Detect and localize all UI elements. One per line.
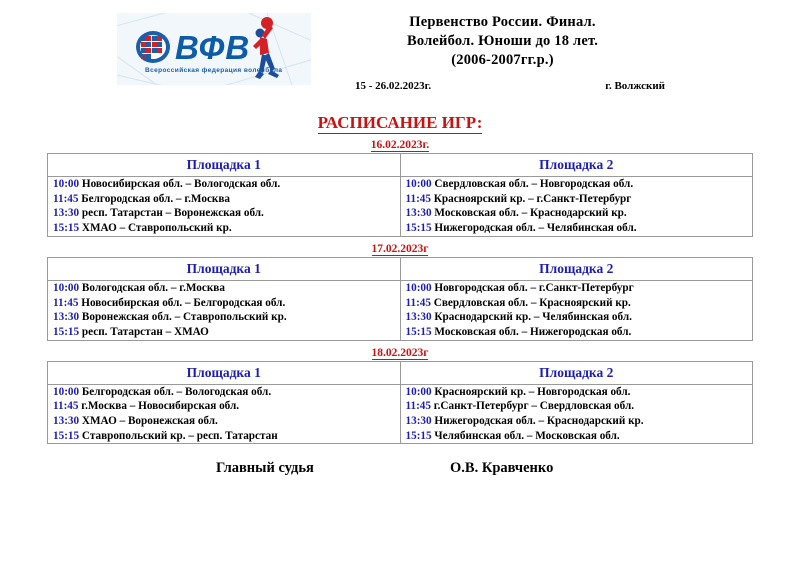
court-2-games: 10:00 Свердловская обл. – Новгородская о… — [400, 177, 753, 237]
game-time: 13:30 — [406, 311, 432, 323]
list-item: 10:00 Свердловская обл. – Новгородская о… — [401, 177, 753, 192]
game-teams: Ставропольский кр. – респ. Татарстан — [82, 430, 278, 442]
game-teams: Нижегородская обл. – Краснодарский кр. — [434, 415, 643, 427]
game-teams: ХМАО – Ставропольский кр. — [82, 222, 232, 234]
event-title-line-2: Волейбол. Юноши до 18 лет. — [330, 32, 675, 51]
game-teams: г.Москва – Новосибирская обл. — [81, 400, 239, 412]
day-date: 17.02.2023г — [0, 243, 800, 255]
game-teams: Белгородская обл. – Вологодская обл. — [82, 386, 271, 398]
list-item: 15:15 Ставропольский кр. – респ. Татарст… — [48, 429, 400, 444]
list-item: 10:00 Красноярский кр. – Новгородская об… — [401, 385, 753, 400]
event-title-line-3: (2006-2007гг.р.) — [330, 51, 675, 70]
game-teams: Новосибирская обл. – Белгородская обл. — [81, 297, 285, 309]
game-teams: Нижегородская обл. – Челябинская обл. — [434, 222, 636, 234]
column-header-court-1: Площадка 1 — [48, 257, 401, 280]
game-time: 10:00 — [53, 178, 79, 190]
column-header-court-1: Площадка 1 — [48, 361, 401, 384]
table-row: 10:00 Вологодская обл. – г.Москва 11:45 … — [48, 280, 753, 340]
game-time: 10:00 — [406, 386, 432, 398]
list-item: 15:15 Челябинская обл. – Московская обл. — [401, 429, 753, 444]
event-title-line-1: Первенство России. Финал. — [330, 13, 675, 32]
column-header-court-2: Площадка 2 — [400, 257, 753, 280]
day-date-text: 17.02.2023г — [372, 243, 429, 256]
event-title-block: Первенство России. Финал. Волейбол. Юнош… — [330, 13, 675, 70]
list-item: 11:45 г.Санкт-Петербург – Свердловская о… — [401, 399, 753, 414]
day-date-text: 16.02.2023г. — [371, 139, 430, 152]
game-teams: Свердловская обл. – Новгородская обл. — [434, 178, 633, 190]
game-teams: Московская обл. – Краснодарский кр. — [434, 207, 626, 219]
game-time: 13:30 — [53, 311, 79, 323]
game-time: 15:15 — [53, 430, 79, 442]
list-item: 11:45 Новосибирская обл. – Белгородская … — [48, 296, 400, 311]
game-time: 11:45 — [406, 193, 431, 205]
game-teams: г.Санкт-Петербург – Свердловская обл. — [434, 400, 634, 412]
game-time: 15:15 — [406, 430, 432, 442]
volleyball-federation-logo: ВФВ Всероссийская федерация волейбола — [117, 13, 311, 85]
event-meta-line: 15 - 26.02.2023г. г. Волжский — [355, 80, 665, 92]
game-teams: Новосибирская обл. – Вологодская обл. — [82, 178, 280, 190]
list-item: 11:45 г.Москва – Новосибирская обл. — [48, 399, 400, 414]
list-item: 15:15 ХМАО – Ставропольский кр. — [48, 221, 400, 236]
table-row: 10:00 Новосибирская обл. – Вологодская о… — [48, 177, 753, 237]
game-time: 13:30 — [53, 207, 79, 219]
court-2-games: 10:00 Новгородская обл. – г.Санкт-Петерб… — [400, 280, 753, 340]
game-teams: Воронежская обл. – Ставропольский кр. — [82, 311, 287, 323]
game-teams: Красноярский кр. – Новгородская обл. — [434, 386, 630, 398]
game-teams: Свердловская обл. – Красноярский кр. — [434, 297, 631, 309]
column-header-court-2: Площадка 2 — [400, 154, 753, 177]
table-row: 10:00 Белгородская обл. – Вологодская об… — [48, 384, 753, 444]
signature-name: О.В. Кравченко — [450, 460, 553, 477]
list-item: 11:45 Белгородская обл. – г.Москва — [48, 192, 400, 207]
schedule-table: Площадка 1 Площадка 2 10:00 Белгородская… — [47, 361, 753, 445]
table-header-row: Площадка 1 Площадка 2 — [48, 154, 753, 177]
game-time: 15:15 — [53, 222, 79, 234]
game-time: 15:15 — [53, 326, 79, 338]
schedule-title: РАСПИСАНИЕ ИГР: — [0, 113, 800, 133]
schedule-title-text: РАСПИСАНИЕ ИГР: — [318, 113, 483, 134]
table-header-row: Площадка 1 Площадка 2 — [48, 361, 753, 384]
game-teams: Красноярский кр. – г.Санкт-Петербург — [434, 193, 632, 205]
list-item: 10:00 Новосибирская обл. – Вологодская о… — [48, 177, 400, 192]
list-item: 11:45 Свердловская обл. – Красноярский к… — [401, 296, 753, 311]
day-block: 17.02.2023г Площадка 1 Площадка 2 10:00 … — [0, 243, 800, 341]
day-date: 18.02.2023г — [0, 347, 800, 359]
day-date-text: 18.02.2023г — [372, 347, 429, 360]
svg-text:ВФВ: ВФВ — [175, 29, 250, 66]
game-teams: респ. Татарстан – Воронежская обл. — [82, 207, 264, 219]
game-teams: Вологодская обл. – г.Москва — [82, 282, 225, 294]
game-teams: ХМАО – Воронежская обл. — [82, 415, 218, 427]
game-time: 11:45 — [53, 297, 78, 309]
schedule-table: Площадка 1 Площадка 2 10:00 Вологодская … — [47, 257, 753, 341]
list-item: 15:15 Московская обл. – Нижегородская об… — [401, 325, 753, 340]
game-teams: Белгородская обл. – г.Москва — [81, 193, 230, 205]
list-item: 10:00 Вологодская обл. – г.Москва — [48, 281, 400, 296]
schedule-table: Площадка 1 Площадка 2 10:00 Новосибирска… — [47, 153, 753, 237]
list-item: 10:00 Белгородская обл. – Вологодская об… — [48, 385, 400, 400]
list-item: 13:30 Краснодарский кр. – Челябинская об… — [401, 310, 753, 325]
game-time: 11:45 — [406, 297, 431, 309]
game-teams: респ. Татарстан – ХМАО — [82, 326, 209, 338]
list-item: 13:30 ХМАО – Воронежская обл. — [48, 414, 400, 429]
column-header-court-2: Площадка 2 — [400, 361, 753, 384]
list-item: 13:30 Московская обл. – Краснодарский кр… — [401, 206, 753, 221]
list-item: 11:45 Красноярский кр. – г.Санкт-Петербу… — [401, 192, 753, 207]
table-header-row: Площадка 1 Площадка 2 — [48, 257, 753, 280]
signature-block: Главный судья О.В. Кравченко — [0, 460, 800, 488]
day-block: 16.02.2023г. Площадка 1 Площадка 2 10:00… — [0, 139, 800, 237]
event-city: г. Волжский — [605, 80, 665, 92]
list-item: 13:30 Воронежская обл. – Ставропольский … — [48, 310, 400, 325]
game-time: 13:30 — [53, 415, 79, 427]
day-date: 16.02.2023г. — [0, 139, 800, 151]
list-item: 13:30 Нижегородская обл. – Краснодарский… — [401, 414, 753, 429]
game-teams: Новгородская обл. – г.Санкт-Петербург — [434, 282, 633, 294]
game-teams: Челябинская обл. – Московская обл. — [434, 430, 619, 442]
court-1-games: 10:00 Новосибирская обл. – Вологодская о… — [48, 177, 401, 237]
document-header: ВФВ Всероссийская федерация волейбола Пе… — [0, 0, 800, 100]
day-block: 18.02.2023г Площадка 1 Площадка 2 10:00 … — [0, 347, 800, 445]
list-item: 15:15 Нижегородская обл. – Челябинская о… — [401, 221, 753, 236]
game-time: 10:00 — [53, 282, 79, 294]
game-time: 10:00 — [406, 178, 432, 190]
game-teams: Московская обл. – Нижегородская обл. — [434, 326, 631, 338]
game-teams: Краснодарский кр. – Челябинская обл. — [434, 311, 632, 323]
court-1-games: 10:00 Белгородская обл. – Вологодская об… — [48, 384, 401, 444]
game-time: 11:45 — [53, 193, 78, 205]
court-1-games: 10:00 Вологодская обл. – г.Москва 11:45 … — [48, 280, 401, 340]
list-item: 10:00 Новгородская обл. – г.Санкт-Петерб… — [401, 281, 753, 296]
game-time: 15:15 — [406, 222, 432, 234]
game-time: 13:30 — [406, 207, 432, 219]
list-item: 15:15 респ. Татарстан – ХМАО — [48, 325, 400, 340]
column-header-court-1: Площадка 1 — [48, 154, 401, 177]
game-time: 11:45 — [406, 400, 431, 412]
signature-role: Главный судья — [216, 460, 314, 477]
game-time: 10:00 — [406, 282, 432, 294]
game-time: 11:45 — [53, 400, 78, 412]
game-time: 10:00 — [53, 386, 79, 398]
event-dates: 15 - 26.02.2023г. — [355, 80, 431, 92]
court-2-games: 10:00 Красноярский кр. – Новгородская об… — [400, 384, 753, 444]
list-item: 13:30 респ. Татарстан – Воронежская обл. — [48, 206, 400, 221]
game-time: 13:30 — [406, 415, 432, 427]
game-time: 15:15 — [406, 326, 432, 338]
